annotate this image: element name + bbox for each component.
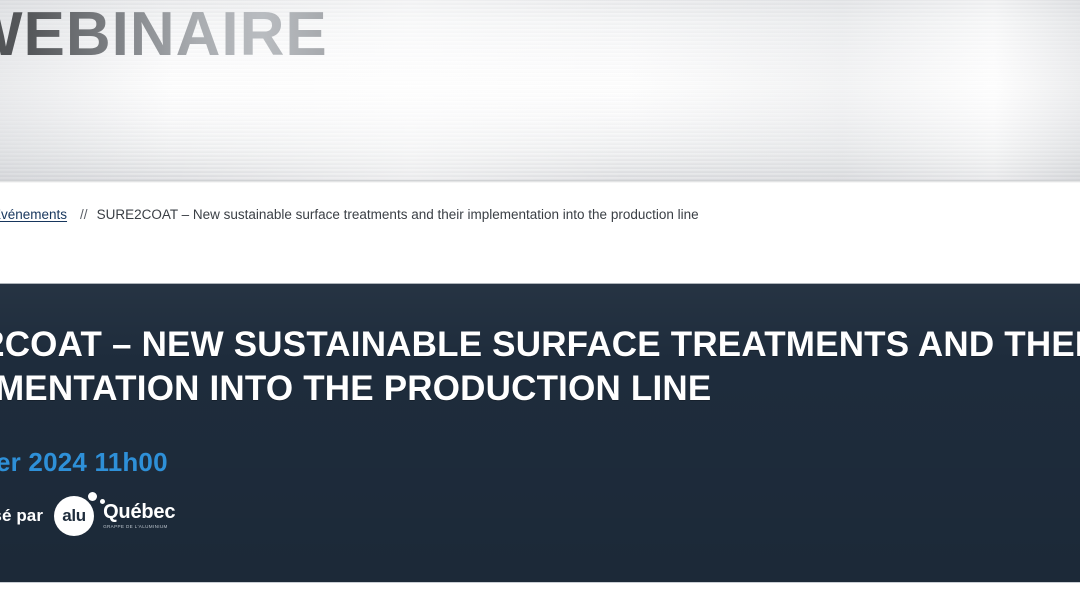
- logo-wordmark-block: Québec grappe de l'aluminium: [103, 502, 175, 530]
- logo-dot-large-icon: [88, 492, 97, 501]
- breadcrumb: Événements // SURE2COAT – New sustainabl…: [0, 206, 699, 224]
- content-area-below-hero: [0, 582, 1080, 608]
- logo-tagline: grappe de l'aluminium: [103, 525, 175, 530]
- banner-wordmark: WEBINAIRE: [0, 4, 328, 66]
- page-root: WEBINAIRE Événements // SURE2COAT – New …: [0, 0, 1080, 608]
- banner-shadow-divider: [0, 180, 1080, 183]
- breadcrumb-band: Événements // SURE2COAT – New sustainabl…: [0, 183, 1080, 283]
- event-date: 8 février 2024 11h00: [0, 447, 168, 478]
- webinar-banner: WEBINAIRE: [0, 0, 1080, 180]
- logo-name: Québec: [103, 502, 175, 522]
- breadcrumb-link-evenements[interactable]: Événements: [0, 206, 67, 224]
- alu-disc-icon: alu: [54, 496, 94, 536]
- breadcrumb-separator: //: [80, 206, 88, 224]
- alu-disc-label: alu: [62, 507, 86, 525]
- organizer-block: Organisé par alu Québec grappe de l'alum…: [0, 495, 175, 537]
- alu-quebec-logo[interactable]: alu Québec grappe de l'aluminium: [54, 495, 175, 537]
- event-hero: SURE2COAT – NEW SUSTAINABLE SURFACE TREA…: [0, 283, 1080, 582]
- page-title: SURE2COAT – NEW SUSTAINABLE SURFACE TREA…: [0, 323, 1080, 411]
- organizer-label: Organisé par: [0, 506, 43, 526]
- breadcrumb-current-page: SURE2COAT – New sustainable surface trea…: [97, 206, 699, 224]
